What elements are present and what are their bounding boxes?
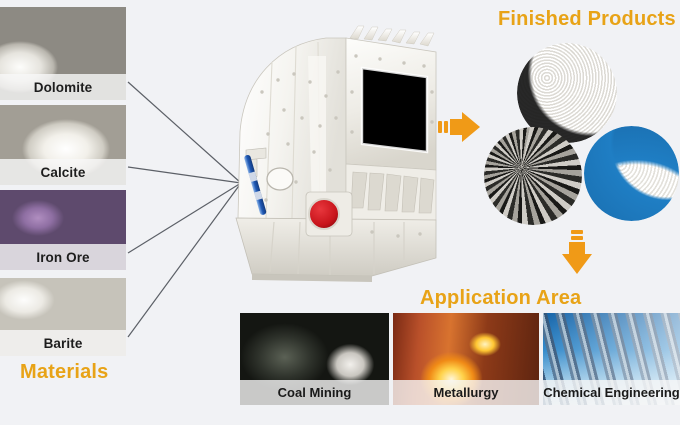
application-card-chemical-engineering[interactable]: Chemical Engineering [543,313,680,405]
material-card-iron-ore[interactable]: Iron Ore [0,190,126,270]
arrow-down-to-applications [560,230,594,276]
impact-crusher[interactable] [222,22,454,284]
application-label: Coal Mining [240,380,389,405]
product-circle-white-powder[interactable] [584,126,679,221]
material-card-calcite[interactable]: Calcite [0,105,126,185]
application-card-metallurgy[interactable]: Metallurgy [393,313,539,405]
product-circle-grey-crushed[interactable] [484,127,582,225]
material-label: Barite [0,330,126,356]
grey-crushed-stone-sample [484,127,582,225]
material-card-barite[interactable]: Barite [0,278,126,356]
application-area-title: Application Area [420,287,581,310]
material-label: Dolomite [0,74,126,100]
material-label: Iron Ore [0,244,126,270]
material-label: Calcite [0,159,126,185]
application-label: Metallurgy [393,380,539,405]
arrow-right-to-products [438,110,480,144]
application-label: Chemical Engineering [543,380,680,405]
materials-section-title: Materials [20,361,109,384]
white-powder-sample [584,126,679,221]
materials-column: Dolomite Calcite Iron Ore Barite Materia… [0,0,127,390]
infographic-canvas: Dolomite Calcite Iron Ore Barite Materia… [0,0,680,425]
material-card-dolomite[interactable]: Dolomite [0,7,126,100]
finished-products-title: Finished Products [498,8,676,31]
flywheel-cover-part [306,192,352,236]
application-card-coal-mining[interactable]: Coal Mining [240,313,389,405]
